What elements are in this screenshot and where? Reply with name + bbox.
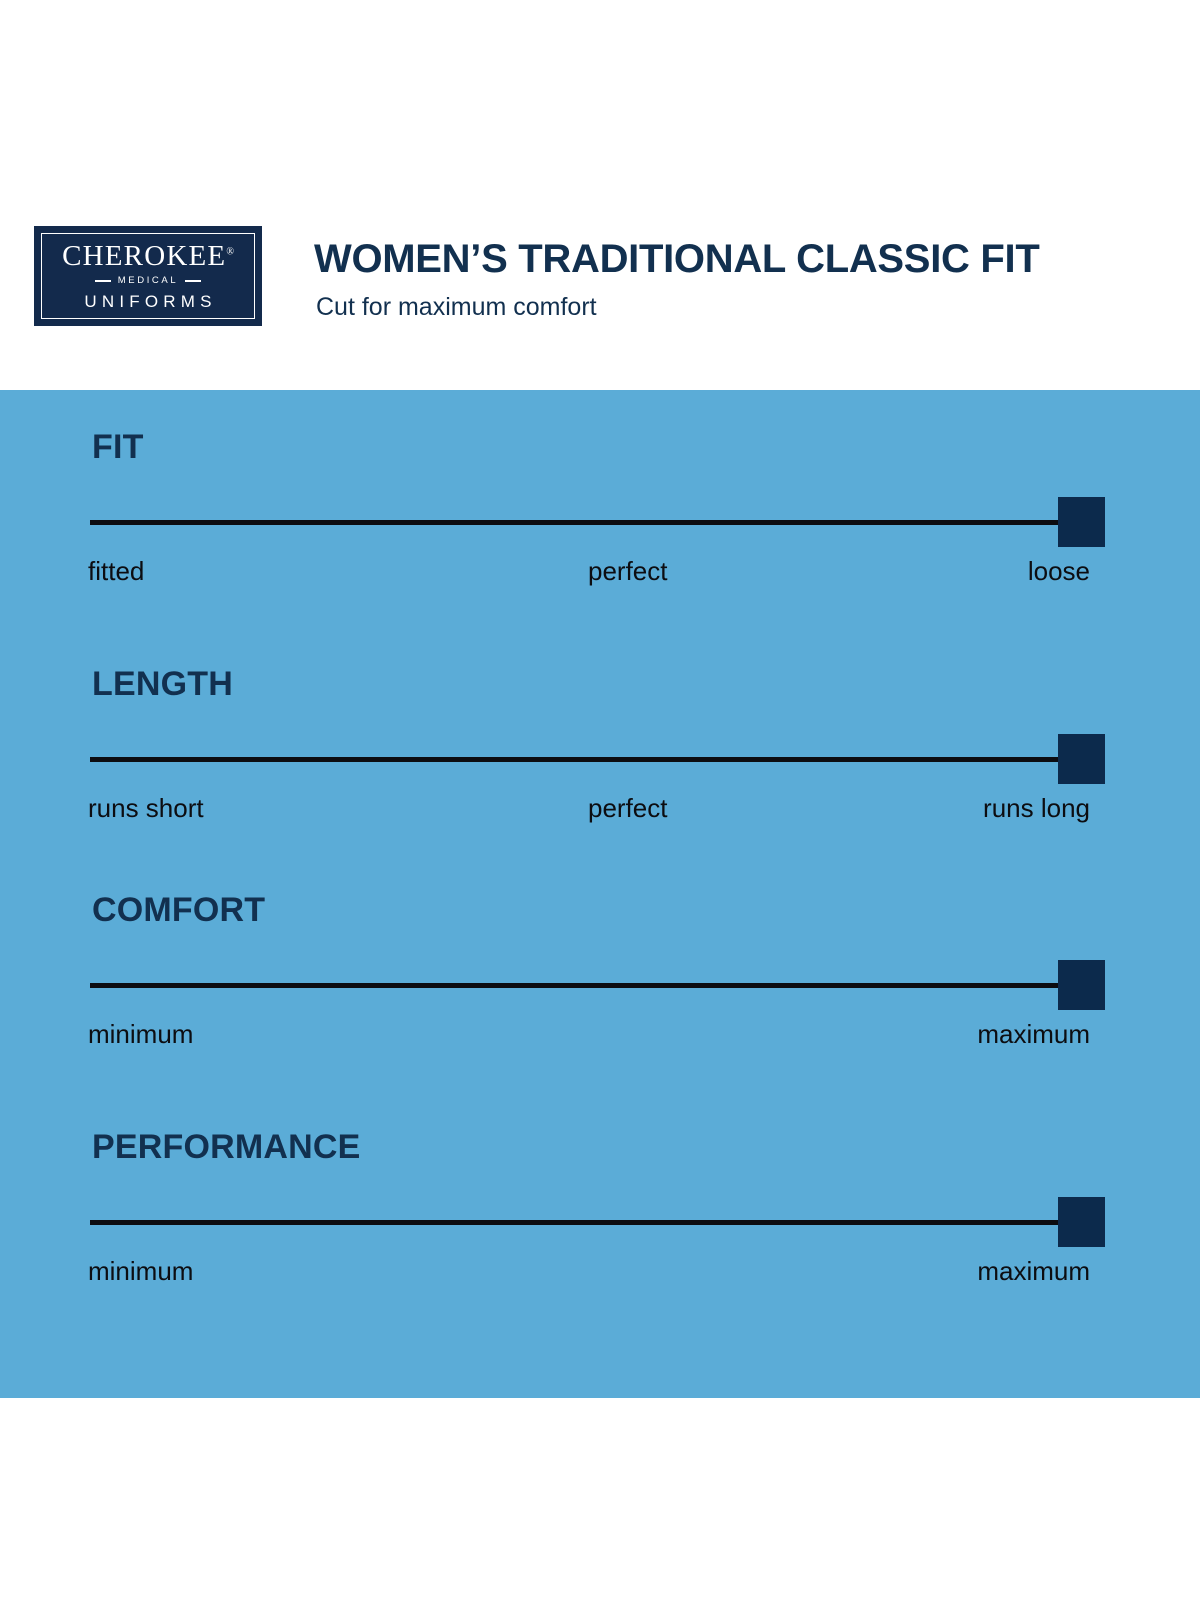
brand-name: CHEROKEE®: [62, 242, 234, 271]
length-slider[interactable]: [88, 731, 1110, 787]
scale-label-min: minimum: [88, 1258, 193, 1284]
scale-label-max: loose: [1028, 558, 1090, 584]
scale-labels: runs short perfect runs long: [88, 795, 1110, 835]
metric-fit: FIT fitted perfect loose: [88, 430, 1110, 598]
fit-slider[interactable]: [88, 494, 1110, 550]
footer-whitespace: [0, 1398, 1200, 1600]
slider-handle[interactable]: [1058, 1197, 1105, 1247]
scale-labels: fitted perfect loose: [88, 558, 1110, 598]
page-title: WOMEN’S TRADITIONAL CLASSIC FIT: [314, 238, 1040, 280]
rule-right-icon: [185, 280, 201, 282]
metric-performance: PERFORMANCE minimum maximum: [88, 1130, 1110, 1298]
page-subtitle: Cut for maximum comfort: [316, 294, 1040, 322]
scale-label-max: maximum: [977, 1021, 1090, 1047]
scale-label-middle: perfect: [588, 558, 668, 584]
slider-handle[interactable]: [1058, 734, 1105, 784]
metric-title: LENGTH: [92, 667, 1110, 701]
performance-slider[interactable]: [88, 1194, 1110, 1250]
scale-label-middle: perfect: [588, 795, 668, 821]
slider-handle[interactable]: [1058, 960, 1105, 1010]
header-text-block: WOMEN’S TRADITIONAL CLASSIC FIT Cut for …: [314, 238, 1040, 322]
metric-length: LENGTH runs short perfect runs long: [88, 667, 1110, 835]
comfort-slider[interactable]: [88, 957, 1110, 1013]
scale-label-min: minimum: [88, 1021, 193, 1047]
brand-name-text: CHEROKEE: [62, 240, 226, 272]
brand-logo: CHEROKEE® MEDICAL UNIFORMS: [34, 226, 262, 326]
metric-title: FIT: [92, 430, 1110, 464]
brand-logo-frame: CHEROKEE® MEDICAL UNIFORMS: [41, 233, 255, 319]
scale-label-max: runs long: [983, 795, 1090, 821]
rule-left-icon: [95, 280, 111, 282]
slider-track[interactable]: [90, 757, 1060, 762]
brand-descriptor: MEDICAL: [118, 276, 178, 286]
slider-handle[interactable]: [1058, 497, 1105, 547]
scale-label-min: runs short: [88, 795, 204, 821]
scale-labels: minimum maximum: [88, 1258, 1110, 1298]
fit-guide-page: CHEROKEE® MEDICAL UNIFORMS WOMEN’S TRADI…: [0, 0, 1200, 1600]
metric-title: PERFORMANCE: [92, 1130, 1110, 1164]
scale-label-min: fitted: [88, 558, 144, 584]
slider-track[interactable]: [90, 983, 1060, 988]
slider-track[interactable]: [90, 520, 1060, 525]
brand-descriptor-row: MEDICAL: [95, 276, 201, 286]
metric-comfort: COMFORT minimum maximum: [88, 893, 1110, 1061]
registered-trademark-icon: ®: [226, 247, 234, 258]
metric-title: COMFORT: [92, 893, 1110, 927]
slider-track[interactable]: [90, 1220, 1060, 1225]
scale-label-max: maximum: [977, 1258, 1090, 1284]
scale-labels: minimum maximum: [88, 1021, 1110, 1061]
fit-scale-panel: FIT fitted perfect loose LENGTH: [0, 390, 1200, 1398]
page-header: CHEROKEE® MEDICAL UNIFORMS WOMEN’S TRADI…: [0, 0, 1200, 390]
brand-category: UNIFORMS: [79, 293, 216, 310]
